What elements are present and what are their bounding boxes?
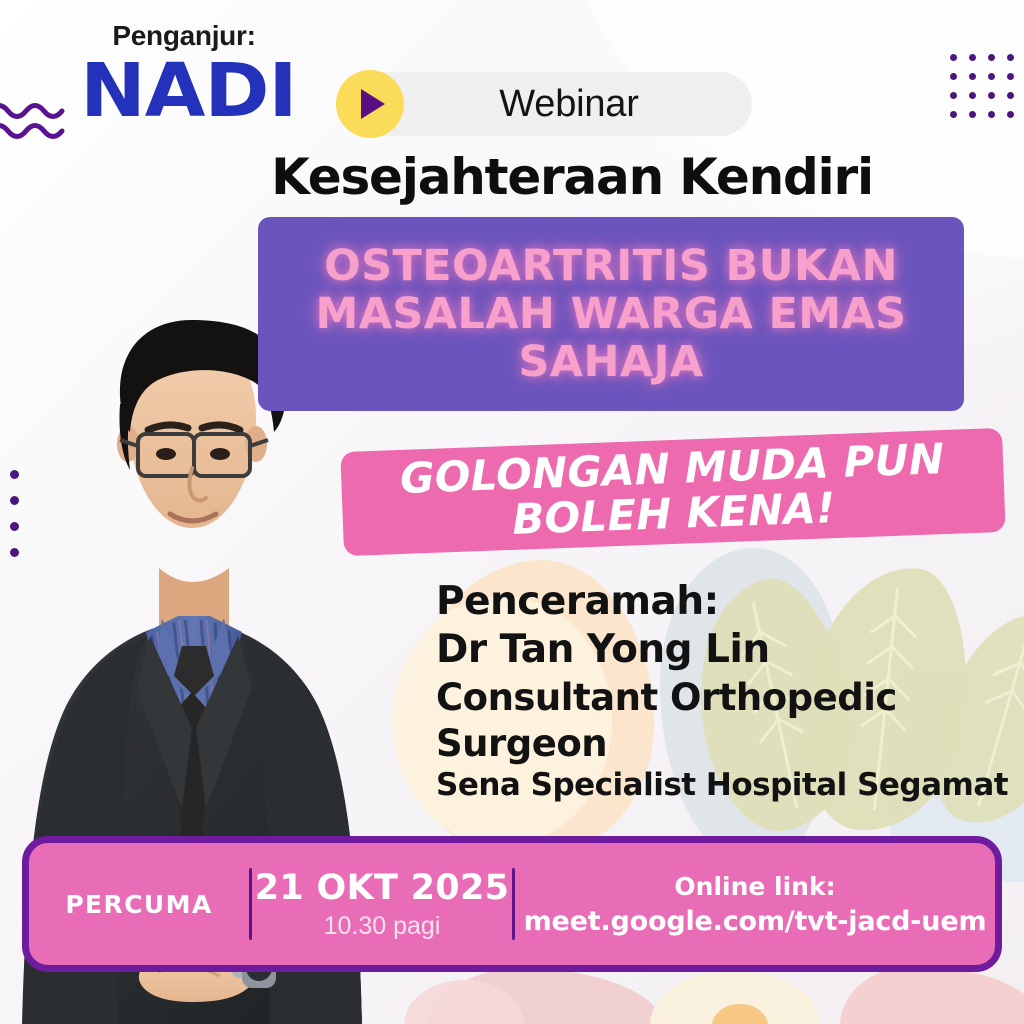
speaker-title-2: Surgeon xyxy=(436,721,1016,767)
speaker-name: Dr Tan Yong Lin xyxy=(436,626,1016,674)
price-label: PERCUMA xyxy=(65,890,212,919)
play-icon xyxy=(336,70,404,138)
organiser-kicker: Penganjur: xyxy=(86,22,282,50)
speaker-title-1: Consultant Orthopedic xyxy=(436,675,1016,721)
meeting-link-url[interactable]: meet.google.com/tvt-jacd-uem xyxy=(524,906,987,937)
event-info-banner: PERCUMA 21 OKT 2025 10.30 pagi Online li… xyxy=(22,836,1002,972)
speaker-role-label: Penceramah: xyxy=(436,578,1016,626)
organiser-block: Penganjur: NADI xyxy=(86,22,282,127)
event-date: 21 OKT 2025 xyxy=(255,868,510,908)
speaker-details: Penceramah: Dr Tan Yong Lin Consultant O… xyxy=(436,578,1016,805)
online-link-label: Online link: xyxy=(674,872,835,901)
topic-line-2: MASALAH WARGA EMAS xyxy=(316,290,907,338)
dot-grid-decoration xyxy=(944,48,1020,124)
webinar-badge: Webinar xyxy=(340,72,752,136)
topic-line-1: OSTEOARTRITIS BUKAN xyxy=(316,242,907,290)
subtitle-text: GOLONGAN MUDA PUN BOLEH KENA! xyxy=(385,437,960,547)
webinar-poster: Penganjur: NADI Webinar Kesejahteraan Ke… xyxy=(0,0,1024,1024)
price-cell: PERCUMA xyxy=(29,890,249,919)
link-cell: Online link: meet.google.com/tvt-jacd-ue… xyxy=(515,872,995,937)
date-cell: 21 OKT 2025 10.30 pagi xyxy=(252,868,512,941)
speaker-organisation: Sena Specialist Hospital Segamat xyxy=(436,766,1016,804)
event-time: 10.30 pagi xyxy=(324,912,441,941)
topic-text: OSTEOARTRITIS BUKAN MASALAH WARGA EMAS S… xyxy=(316,242,907,386)
nadi-logo: NADI xyxy=(80,56,288,127)
wave-decoration-icon xyxy=(0,98,68,144)
topic-banner: OSTEOARTRITIS BUKAN MASALAH WARGA EMAS S… xyxy=(258,217,964,411)
topic-line-3: SAHAJA xyxy=(316,338,907,386)
page-title: Kesejahteraan Kendiri xyxy=(0,148,1024,206)
